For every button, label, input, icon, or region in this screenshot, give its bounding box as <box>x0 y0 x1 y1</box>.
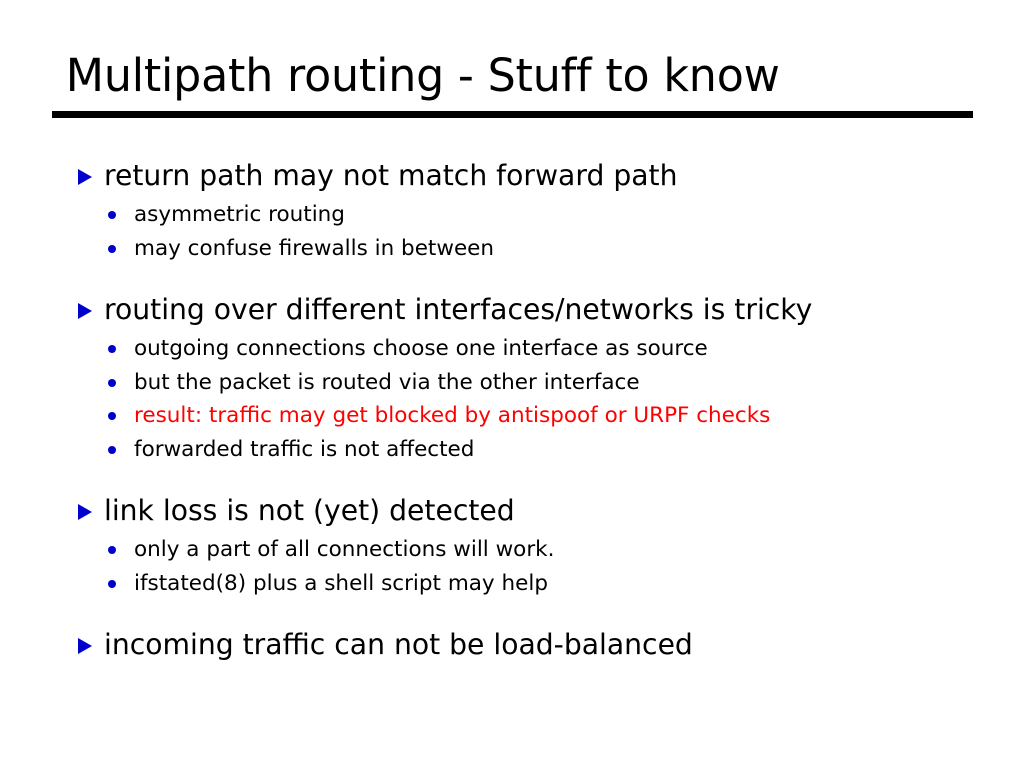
bullet-level1: incoming traffic can not be load-balance… <box>78 624 978 666</box>
page-title: Multipath routing - Stuff to know <box>52 48 959 104</box>
slide-body: return path may not match forward path a… <box>78 155 978 666</box>
dot-bullet-icon <box>108 580 116 588</box>
dot-bullet-icon <box>108 345 116 353</box>
dot-bullet-icon <box>108 245 116 253</box>
dot-bullet-icon <box>108 412 116 420</box>
bullet-level1-label: routing over different interfaces/networ… <box>104 289 812 331</box>
bullet-level1: routing over different interfaces/networ… <box>78 289 978 331</box>
bullet-sublist: only a part of all connections will work… <box>78 533 978 600</box>
dot-bullet-icon <box>108 379 116 387</box>
bullet-level2-label: but the packet is routed via the other i… <box>134 366 640 400</box>
title-underline-rule <box>52 111 973 118</box>
triangle-bullet-icon <box>78 303 92 319</box>
bullet-level2: outgoing connections choose one interfac… <box>78 332 978 366</box>
triangle-bullet-icon <box>78 504 92 520</box>
bullet-group: return path may not match forward path a… <box>78 155 978 265</box>
bullet-level2-label: forwarded traffic is not affected <box>134 433 474 467</box>
bullet-level1: return path may not match forward path <box>78 155 978 197</box>
bullet-level2-label: outgoing connections choose one interfac… <box>134 332 708 366</box>
bullet-level2-label: ifstated(8) plus a shell script may help <box>134 567 548 601</box>
bullet-level2: only a part of all connections will work… <box>78 533 978 567</box>
bullet-level2-label: asymmetric routing <box>134 198 345 232</box>
bullet-level2-label: may confuse firewalls in between <box>134 232 494 266</box>
bullet-level2-label: only a part of all connections will work… <box>134 533 554 567</box>
bullet-sublist: outgoing connections choose one interfac… <box>78 332 978 466</box>
bullet-sublist: asymmetric routing may confuse firewalls… <box>78 198 978 265</box>
bullet-level2: forwarded traffic is not affected <box>78 433 978 467</box>
bullet-level2: ifstated(8) plus a shell script may help <box>78 567 978 601</box>
bullet-level1-label: link loss is not (yet) detected <box>104 490 515 532</box>
triangle-bullet-icon <box>78 638 92 654</box>
bullet-group: link loss is not (yet) detected only a p… <box>78 490 978 600</box>
bullet-level2: but the packet is routed via the other i… <box>78 366 978 400</box>
bullet-level1-label: return path may not match forward path <box>104 155 677 197</box>
slide-header: Multipath routing - Stuff to know <box>52 48 973 118</box>
dot-bullet-icon <box>108 211 116 219</box>
bullet-level1: link loss is not (yet) detected <box>78 490 978 532</box>
dot-bullet-icon <box>108 546 116 554</box>
dot-bullet-icon <box>108 446 116 454</box>
bullet-level2-highlighted: result: traffic may get blocked by antis… <box>78 399 978 433</box>
bullet-group: incoming traffic can not be load-balance… <box>78 624 978 666</box>
bullet-level2: may confuse firewalls in between <box>78 232 978 266</box>
bullet-level2-label: result: traffic may get blocked by antis… <box>134 399 770 433</box>
bullet-level2: asymmetric routing <box>78 198 978 232</box>
bullet-level1-label: incoming traffic can not be load-balance… <box>104 624 693 666</box>
triangle-bullet-icon <box>78 169 92 185</box>
bullet-group: routing over different interfaces/networ… <box>78 289 978 466</box>
slide-canvas: Multipath routing - Stuff to know return… <box>0 0 1024 768</box>
